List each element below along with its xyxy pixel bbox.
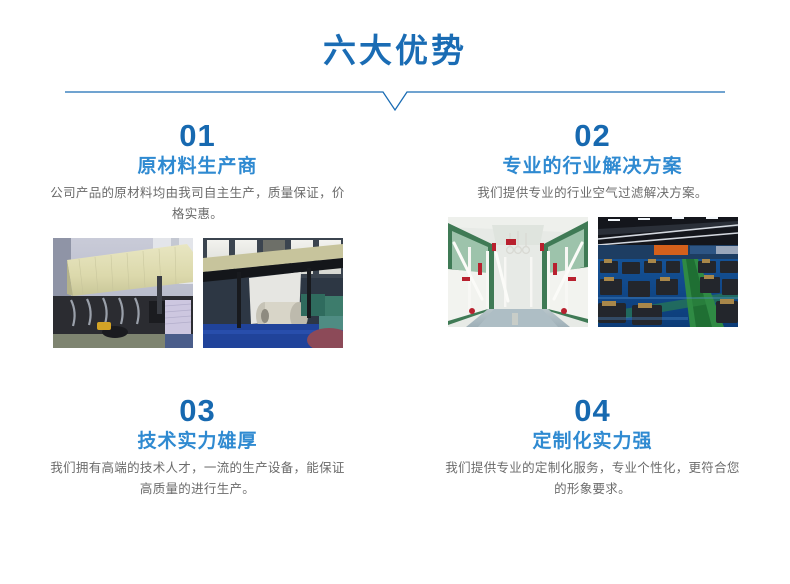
feature-desc-01: 公司产品的原材料均由我司自主生产，质量保证，价格实惠。 <box>0 183 395 224</box>
feature-heading-04: 定制化实力强 <box>395 430 790 454</box>
feature-block-03: 03 技术实力雄厚 我们拥有高端的技术人才，一流的生产设备，能保证高质量的进行生… <box>0 395 395 555</box>
feature-grid: 01 原材料生产商 公司产品的原材料均由我司自主生产，质量保证，价格实惠。 原材… <box>0 120 790 555</box>
horizontal-rule-with-v-notch-icon <box>65 90 725 112</box>
feature-heading-03: 技术实力雄厚 <box>0 430 395 454</box>
subway-interior-photo-icon <box>448 217 588 327</box>
feature-desc-04: 我们提供专业的定制化服务，专业个性化，更符合您的形象要求。 <box>395 458 790 499</box>
page-title: 六大优势 <box>0 34 790 67</box>
factory-machine-photo-icon <box>53 238 193 348</box>
photo-pair-02: 地铁车厢内部照片 <box>395 217 790 327</box>
feature-heading-02: 专业的行业解决方案 <box>395 155 790 179</box>
feature-desc-02: 我们提供专业的行业空气过滤解决方案。 <box>395 183 790 204</box>
feature-block-04: 04 定制化实力强 我们提供专业的定制化服务，专业个性化，更符合您的形象要求。 <box>395 395 790 555</box>
feature-photo-02b[interactable]: 工业车间生产线照片 <box>598 217 738 327</box>
fabric-roll-machine-photo-icon <box>203 238 343 348</box>
page-header: 六大优势 <box>0 0 790 120</box>
photo-pair-01: 原材料生产设备照片 <box>0 238 395 348</box>
feature-photo-01a[interactable]: 原材料生产设备照片 <box>53 238 193 348</box>
feature-number-01: 01 <box>0 120 395 153</box>
feature-row-top: 01 原材料生产商 公司产品的原材料均由我司自主生产，质量保证，价格实惠。 原材… <box>0 120 790 395</box>
feature-number-02: 02 <box>395 120 790 153</box>
feature-photo-02a[interactable]: 地铁车厢内部照片 <box>448 217 588 327</box>
feature-photo-01b[interactable]: 无纺布卷材生产线照片 <box>203 238 343 348</box>
header-divider <box>65 90 725 112</box>
feature-desc-03: 我们拥有高端的技术人才，一流的生产设备，能保证高质量的进行生产。 <box>0 458 395 499</box>
feature-row-bottom: 03 技术实力雄厚 我们拥有高端的技术人才，一流的生产设备，能保证高质量的进行生… <box>0 395 790 555</box>
feature-block-02: 02 专业的行业解决方案 我们提供专业的行业空气过滤解决方案。 地铁车厢内部照片 <box>395 120 790 395</box>
feature-block-01: 01 原材料生产商 公司产品的原材料均由我司自主生产，质量保证，价格实惠。 原材… <box>0 120 395 395</box>
feature-heading-01: 原材料生产商 <box>0 155 395 179</box>
factory-floor-photo-icon <box>598 217 738 327</box>
feature-number-03: 03 <box>0 395 395 428</box>
feature-number-04: 04 <box>395 395 790 428</box>
